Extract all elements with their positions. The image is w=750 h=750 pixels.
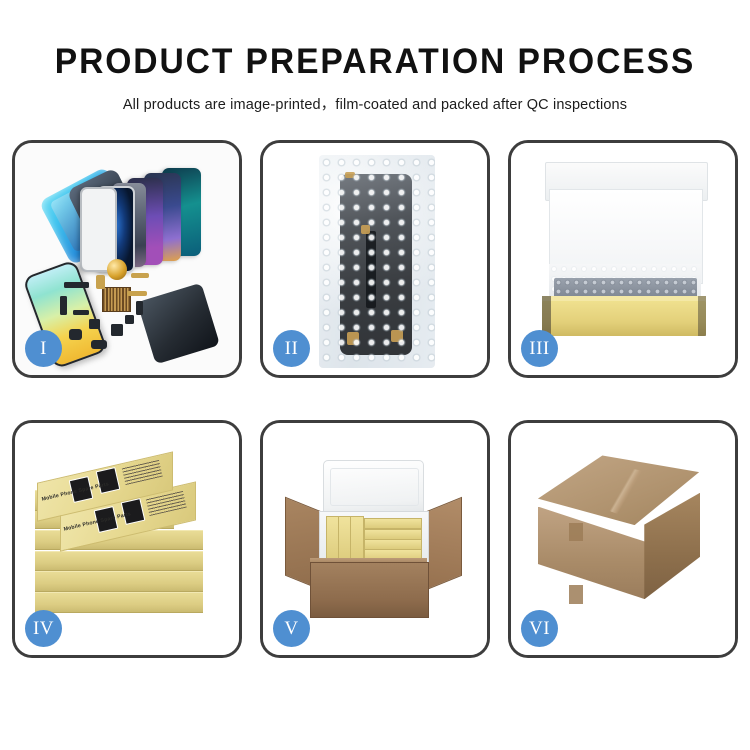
step-badge-2: II — [273, 330, 310, 367]
small-part-graphic — [64, 282, 89, 288]
small-part-graphic — [60, 296, 67, 315]
carton-tape-lower — [569, 585, 582, 604]
page-subtitle: All products are image-printed，film-coat… — [0, 79, 750, 114]
phone-screen-fan — [98, 166, 237, 268]
retail-box-item — [326, 516, 339, 562]
process-step-card-6: VI — [508, 420, 738, 658]
bubble-bag-graphic — [319, 155, 435, 368]
step-badge-6: VI — [521, 610, 558, 647]
small-part-graphic — [89, 319, 100, 328]
retail-box-item — [350, 516, 363, 562]
small-part-graphic — [91, 340, 107, 349]
process-step-card-3: III — [508, 140, 738, 378]
process-step-grid: I II — [12, 140, 738, 740]
speaker-part-graphic — [107, 259, 127, 280]
process-step-card-1: I — [12, 140, 242, 378]
process-step-card-5: V — [260, 420, 490, 658]
small-part-graphic — [136, 301, 143, 315]
small-part-graphic — [111, 324, 122, 336]
flex-cable-graphic — [131, 273, 149, 278]
step-badge-4: IV — [25, 610, 62, 647]
process-step-card-4: Mobile Phone Spare Parts Mobile Phone Sp… — [12, 420, 242, 658]
flex-cable-graphic — [127, 291, 147, 296]
kraft-box-front-graphic — [542, 301, 706, 336]
page-title: PRODUCT PREPARATION PROCESS — [15, 0, 735, 79]
small-part-graphic — [73, 310, 89, 315]
header: PRODUCT PREPARATION PROCESS All products… — [0, 0, 750, 114]
small-part-graphic — [125, 315, 134, 324]
kraft-box-slab — [35, 551, 203, 572]
kraft-box-slab — [35, 571, 203, 592]
carton-front-graphic — [310, 562, 428, 617]
retail-box-item — [338, 516, 351, 562]
step-badge-3: III — [521, 330, 558, 367]
phone-chassis-graphic — [137, 283, 220, 365]
flex-cable-graphic — [96, 275, 105, 289]
kraft-box-edge-right — [698, 296, 706, 335]
step-badge-1: I — [25, 330, 62, 367]
product-preparation-infographic: PRODUCT PREPARATION PROCESS All products… — [0, 0, 750, 750]
bubble-texture — [319, 155, 435, 368]
step-badge-5: V — [273, 610, 310, 647]
kraft-box-slab — [35, 592, 203, 613]
carton-tape-upper — [569, 523, 582, 542]
small-part-graphic — [69, 329, 82, 341]
process-step-card-2: II — [260, 140, 490, 378]
